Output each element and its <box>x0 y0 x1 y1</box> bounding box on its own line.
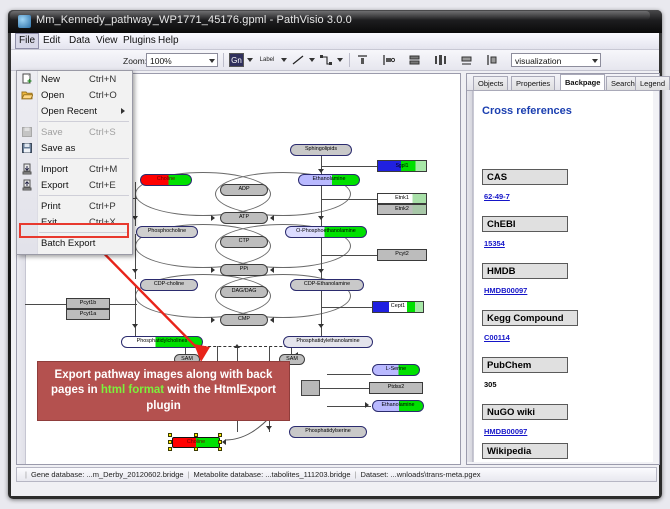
zoom-label: Zoom: <box>123 56 147 66</box>
file-menu-item-batch-export[interactable]: Batch Export <box>17 235 132 251</box>
selection-handle-se[interactable] <box>218 447 222 451</box>
node-sgpl1[interactable]: Sgpl1 <box>377 160 427 172</box>
file-menu-separator-1 <box>39 121 129 122</box>
status-gene-db-label: Gene database: <box>31 470 84 479</box>
node-label: Ethanolamine <box>313 177 346 182</box>
label-icon[interactable]: Label <box>256 53 278 67</box>
node-label: Phosphatidylethanolamine <box>296 339 359 344</box>
node-label: O-Phosphoethanolamine <box>296 229 356 234</box>
node-label: Choline <box>187 440 205 445</box>
file-menu-item-save-as[interactable]: Save as <box>17 140 132 156</box>
file-menu-item-open[interactable]: Open Ctrl+O <box>17 87 132 103</box>
arrow-left-cmp <box>270 317 274 323</box>
file-menu-separator-3 <box>39 195 129 196</box>
tab-legend[interactable]: Legend <box>635 76 670 90</box>
node-unlabeled-box[interactable] <box>301 380 320 396</box>
arrow-down-4 <box>318 169 324 173</box>
arrow-right-atp <box>211 215 215 221</box>
file-menu-accel: Ctrl+P <box>89 201 116 212</box>
zoom-combo[interactable]: 100% <box>146 53 218 67</box>
selection-handle-w[interactable] <box>168 440 172 444</box>
node-ethanolamine-2[interactable]: Ethanolamine <box>372 400 424 412</box>
selection-handle-ne[interactable] <box>218 433 222 437</box>
import-icon <box>21 163 33 175</box>
visualization-combo[interactable]: visualization <box>511 53 601 67</box>
tab-objects[interactable]: Objects <box>473 76 508 90</box>
submenu-arrow-icon <box>121 108 125 114</box>
file-menu-label: Import <box>41 164 68 175</box>
arrow-down-6 <box>318 269 324 273</box>
node-o-phosphoethanolamine[interactable]: O-Phosphoethanolamine <box>285 226 367 238</box>
application-window: Mm_Kennedy_pathway_WP1771_45176.gpml - P… <box>8 10 662 499</box>
tab-backpage[interactable]: Backpage <box>560 74 605 90</box>
file-menu-item-exit[interactable]: Exit Ctrl+X <box>17 214 132 230</box>
file-menu-label: Open <box>41 90 64 101</box>
screenshot-root: Mm_Kennedy_pathway_WP1771_45176.gpml - P… <box>0 0 670 509</box>
node-l-serine[interactable]: L-Serine <box>372 364 420 376</box>
xref-header-nugo: NuGO wiki <box>482 404 568 420</box>
edge-stub-etnk <box>321 199 379 200</box>
node-ptdss2[interactable]: Ptdss2 <box>369 382 423 394</box>
callout-text: Export pathway images along with back pa… <box>44 368 283 415</box>
status-dataset-value: ...wnloads\trans-meta.pgex <box>390 470 480 479</box>
node-ethanolamine-1[interactable]: Ethanolamine <box>298 174 360 186</box>
file-menu-popup[interactable]: New Ctrl+N Open Ctrl+O Open Recent <box>16 70 133 255</box>
node-label: Sgpl1 <box>396 164 409 169</box>
edge-stub-left-2 <box>25 304 67 305</box>
label-dropdown-icon[interactable] <box>281 58 287 62</box>
xref-value-kegg[interactable]: C00114 <box>484 333 510 342</box>
save-as-icon <box>21 142 33 154</box>
node-label: Choline <box>157 177 175 182</box>
arrow-left-atp <box>270 215 274 221</box>
edge-cdpetn-ptdetn <box>321 286 322 336</box>
folder-open-icon <box>21 89 33 101</box>
node-sphingolipids[interactable]: Sphingolipids <box>290 144 352 156</box>
xref-header-hmdb: HMDB <box>482 263 568 279</box>
selection-handle-n[interactable] <box>194 433 198 437</box>
node-atp[interactable]: ATP <box>220 212 268 224</box>
file-menu-accel: Ctrl+O <box>89 90 117 101</box>
file-menu-item-new[interactable]: New Ctrl+N <box>17 71 132 87</box>
chevron-down-icon <box>209 59 215 63</box>
menu-file[interactable]: File <box>15 33 39 49</box>
status-divider-2: | <box>350 470 360 479</box>
xref-value-hmdb[interactable]: HMDB00097 <box>484 286 527 295</box>
node-phosphatidylserine[interactable]: Phosphatidylserine <box>289 426 367 438</box>
pathvisio-icon <box>18 15 31 28</box>
window-title: Mm_Kennedy_pathway_WP1771_45176.gpml - P… <box>36 14 352 26</box>
align-top-icon[interactable] <box>355 53 370 67</box>
file-menu-accel: Ctrl+E <box>89 180 116 191</box>
line-dropdown-icon[interactable] <box>309 58 315 62</box>
node-pcyt2[interactable]: Pcyt2 <box>377 249 427 261</box>
save-disk-icon <box>21 126 33 138</box>
node-cdp-ethanolamine[interactable]: CDP-Ethanolamine <box>290 279 364 291</box>
node-label: Cept1 <box>391 304 405 309</box>
node-etnk2[interactable]: Etnk2 <box>377 204 427 215</box>
xref-value-pubchem: 305 <box>484 380 497 389</box>
node-label: Sphingolipids <box>305 147 337 152</box>
node-label: Ethanolamine <box>382 403 415 408</box>
new-document-icon <box>21 73 33 85</box>
zoom-value: 100% <box>150 56 172 66</box>
selection-handle-s[interactable] <box>194 447 198 451</box>
side-panel: Objects Properties Backpage Search Legen… <box>466 73 660 465</box>
file-menu-label: Print <box>41 201 61 212</box>
edge-stub-pcyt2 <box>321 255 379 256</box>
toolbar-separator-2 <box>349 53 350 67</box>
arrow-left-ppi <box>270 267 274 273</box>
menu-data[interactable]: Data <box>65 34 94 48</box>
status-dataset-label: Dataset: <box>360 470 388 479</box>
node-cept1[interactable]: Cept1 <box>372 301 424 313</box>
node-choline[interactable]: Choline <box>140 174 192 186</box>
status-gene-db-value: ...m_Derby_20120602.bridge <box>86 470 183 479</box>
xref-header-chebi: ChEBI <box>482 216 568 232</box>
file-menu-label: Save <box>41 127 63 138</box>
xref-header-pubchem: PubChem <box>482 357 568 373</box>
status-divider-0: | <box>21 470 31 479</box>
file-menu-accel: Ctrl+M <box>89 164 117 175</box>
node-label: Pcyt2 <box>395 252 408 257</box>
arrow-down-5 <box>318 216 324 220</box>
visualization-value: visualization <box>515 56 561 66</box>
file-menu-accel: Ctrl+S <box>89 127 116 138</box>
menu-view[interactable]: View <box>92 34 122 48</box>
file-menu-label: Open Recent <box>41 106 97 117</box>
toolbar: Zoom: 100% Gn Label <box>11 50 659 71</box>
align-middle-icon[interactable] <box>407 53 422 67</box>
menu-help[interactable]: Help <box>154 34 183 48</box>
status-metabolite-db-value: ...tabolites_111203.bridge <box>265 470 350 479</box>
xref-value-cas[interactable]: 62-49-7 <box>484 192 510 201</box>
file-menu-item-export[interactable]: Export Ctrl+E <box>17 177 132 193</box>
title-bar[interactable]: Mm_Kennedy_pathway_WP1771_45176.gpml - P… <box>8 10 662 33</box>
file-menu-separator-4 <box>39 232 129 233</box>
client-area: File Edit Data View Plugins Help Zoom: 1… <box>11 33 659 496</box>
annotation-callout: Export pathway images along with back pa… <box>37 361 290 421</box>
menu-edit[interactable]: Edit <box>39 34 64 48</box>
cross-references-heading: Cross references <box>482 105 572 117</box>
node-label: ADP <box>238 187 249 192</box>
arrow-right-etn2 <box>365 402 369 408</box>
node-label: CDP-Ethanolamine <box>304 282 350 287</box>
datanode-icon[interactable]: Gn <box>229 53 244 67</box>
same-height-icon[interactable] <box>485 53 500 67</box>
backpage-content: Cross references CAS 62-49-7 ChEBI 15354… <box>473 91 653 462</box>
node-label: L-Serine <box>386 367 406 372</box>
file-menu-label: Save as <box>41 143 75 154</box>
connector-icon[interactable] <box>319 53 334 67</box>
menu-bar: File Edit Data View Plugins Help <box>11 33 659 50</box>
file-menu-item-import[interactable]: Import Ctrl+M <box>17 161 132 177</box>
datanode-dropdown-icon[interactable] <box>247 58 253 62</box>
edge-stub-sgpl1 <box>321 166 379 167</box>
selection-handle-nw[interactable] <box>168 433 172 437</box>
file-menu-item-print[interactable]: Print Ctrl+P <box>17 198 132 214</box>
file-menu-separator-2 <box>39 158 129 159</box>
node-label: ATP <box>239 215 249 220</box>
tab-properties[interactable]: Properties <box>511 76 555 90</box>
node-label: Etnk2 <box>395 207 409 212</box>
distribute-icon[interactable] <box>433 53 448 67</box>
file-menu-accel: Ctrl+X <box>89 217 116 228</box>
arrow-into-choline <box>222 439 226 445</box>
xref-value-chebi[interactable]: 15354 <box>484 239 505 248</box>
align-left-icon[interactable] <box>381 53 396 67</box>
file-menu-item-open-recent[interactable]: Open Recent <box>17 103 132 119</box>
file-menu-item-save[interactable]: Save Ctrl+S <box>17 124 132 140</box>
selection-handle-sw[interactable] <box>168 447 172 451</box>
same-width-icon[interactable] <box>459 53 474 67</box>
file-menu-label: Export <box>41 180 68 191</box>
xref-value-nugo[interactable]: HMDB00097 <box>484 427 527 436</box>
file-menu-label: Exit <box>41 217 57 228</box>
xref-header-wikipedia: Wikipedia <box>482 443 568 459</box>
node-label: Phosphatidylserine <box>305 429 351 434</box>
export-icon <box>21 179 33 191</box>
xref-header-kegg: Kegg Compound <box>482 310 578 326</box>
node-adp[interactable]: ADP <box>220 184 268 196</box>
node-etnk1[interactable]: Etnk1 <box>377 193 427 204</box>
chevron-down-icon <box>592 59 598 63</box>
status-bar: | Gene database: ...m_Derby_20120602.bri… <box>16 467 657 482</box>
line-icon[interactable] <box>291 53 306 67</box>
edge-lserine <box>327 374 371 375</box>
xref-header-cas: CAS <box>482 169 568 185</box>
node-phosphatidylethanolamine[interactable]: Phosphatidylethanolamine <box>283 336 373 348</box>
node-label: Ptdss2 <box>388 385 404 390</box>
toolbar-separator-1 <box>223 53 224 67</box>
side-panel-tabstrip: Objects Properties Backpage Search Legen… <box>467 74 659 91</box>
status-metabolite-db-label: Metabolite database: <box>194 470 264 479</box>
status-divider-1: | <box>184 470 194 479</box>
connector-dropdown-icon[interactable] <box>337 58 343 62</box>
edge-stub-cept1 <box>321 307 375 308</box>
node-label: Etnk1 <box>395 196 409 201</box>
file-menu-label: New <box>41 74 60 85</box>
arrow-down-7 <box>318 324 324 328</box>
file-menu-label: Batch Export <box>41 238 95 249</box>
file-menu-accel: Ctrl+N <box>89 74 116 85</box>
